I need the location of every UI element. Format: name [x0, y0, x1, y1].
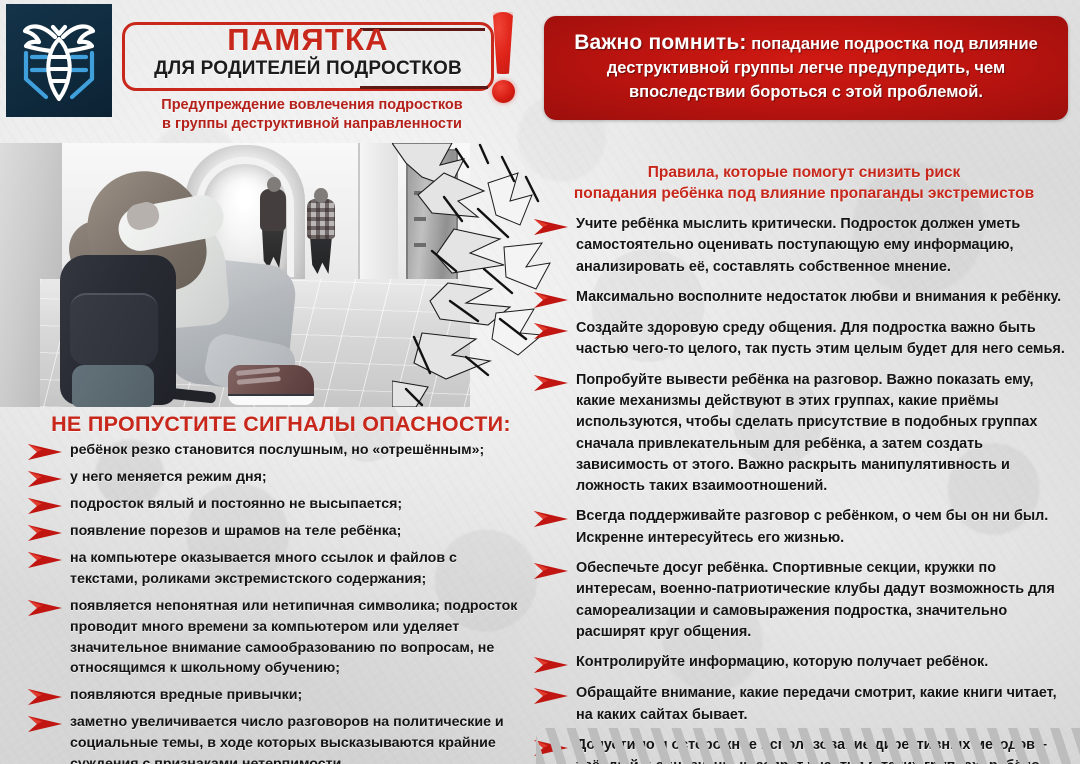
arrow-bullet-icon — [28, 599, 62, 617]
page-note-line-2: в группы деструктивной направленности — [112, 115, 512, 134]
list-item: Обеспечьте досуг ребёнка. Спортивные сек… — [534, 558, 1074, 643]
arrow-bullet-icon — [28, 443, 62, 461]
arrow-bullet-icon — [28, 470, 62, 488]
photo-locker — [406, 149, 458, 289]
right-section-heading-line-2: попадания ребёнка под влияние пропаганды… — [534, 183, 1074, 204]
list-item: подросток вялый и постоянно не высыпаетс… — [28, 494, 528, 515]
arrow-bullet-icon — [28, 715, 62, 733]
important-callout-lead: Важно помнить: — [574, 31, 746, 54]
arrow-bullet-icon — [28, 551, 62, 569]
list-item: у него меняется режим дня; — [28, 467, 528, 488]
exclamation-bar — [488, 12, 518, 74]
list-item-text: Контролируйте информацию, которую получа… — [576, 652, 988, 673]
list-item-text: заметно увеличивается число разговоров н… — [70, 712, 528, 764]
prevention-rules-list: Учите ребёнка мыслить критически. Подрос… — [534, 214, 1074, 764]
list-item: Учите ребёнка мыслить критически. Подрос… — [534, 214, 1074, 278]
arrow-bullet-icon — [534, 562, 568, 580]
list-item-text: Обращайте внимание, какие передачи смотр… — [576, 683, 1074, 726]
list-item-text: Попробуйте вывести ребёнка на разговор. … — [576, 370, 1074, 498]
list-item: на компьютере оказывается много ссылок и… — [28, 548, 528, 590]
arrow-bullet-icon — [534, 510, 568, 528]
arrow-bullet-icon — [28, 497, 62, 515]
photo-running-boy-2-body — [307, 199, 335, 239]
photo-running-boy-2-head — [314, 188, 328, 203]
list-item-text: появление порезов и шрамов на теле ребён… — [70, 521, 401, 542]
list-item: Максимально восполните недостаток любви … — [534, 287, 1074, 309]
important-callout-text: Важно помнить: попадание подростка под в… — [562, 28, 1050, 105]
arrow-bullet-icon — [28, 688, 62, 706]
list-item-text: на компьютере оказывается много ссылок и… — [70, 548, 528, 590]
list-item: ребёнок резко становится послушным, но «… — [28, 440, 528, 461]
list-item: заметно увеличивается число разговоров н… — [28, 712, 528, 764]
list-item: Допустимо и осторожное использование дир… — [534, 735, 1074, 764]
page-title: ПАМЯТКА — [122, 24, 494, 57]
page-subtitle: ДЛЯ РОДИТЕЛЕЙ ПОДРОСТКОВ — [122, 58, 494, 80]
list-item: Обращайте внимание, какие передачи смотр… — [534, 683, 1074, 726]
photo-teen-in-corridor — [0, 143, 470, 407]
list-item: появление порезов и шрамов на теле ребён… — [28, 521, 528, 542]
arrow-bullet-icon — [28, 524, 62, 542]
list-item: Попробуйте вывести ребёнка на разговор. … — [534, 370, 1074, 498]
right-section-heading: Правила, которые помогут снизить риск по… — [534, 162, 1074, 205]
list-item: появляется непонятная или нетипичная сим… — [28, 596, 528, 680]
photo-backpack-bottom — [72, 365, 154, 407]
arrow-bullet-icon — [28, 599, 62, 617]
photo-running-boy-1-body — [260, 189, 286, 231]
arrow-bullet-icon — [534, 656, 568, 674]
list-item-text: Создайте здоровую среду общения. Для под… — [576, 318, 1074, 361]
arrow-bullet-icon — [534, 374, 568, 392]
list-item-text: появляются вредные привычки; — [70, 685, 302, 706]
arrow-bullet-icon — [28, 443, 62, 461]
arrow-bullet-icon — [534, 510, 568, 528]
list-item-text: Максимально восполните недостаток любви … — [576, 287, 1061, 308]
photo-backpack-pocket — [70, 293, 158, 365]
organization-logo — [6, 4, 112, 117]
list-item-text: Всегда поддерживайте разговор с ребёнком… — [576, 506, 1074, 549]
arrow-bullet-icon — [28, 715, 62, 733]
arrow-bullet-icon — [534, 687, 568, 705]
list-item: появляются вредные привычки; — [28, 685, 528, 706]
arrow-bullet-icon — [534, 291, 568, 309]
arrow-bullet-icon — [534, 291, 568, 309]
danger-signals-list: ребёнок резко становится послушным, но «… — [28, 440, 528, 764]
list-item-text: появляется непонятная или нетипичная сим… — [70, 596, 528, 680]
arrow-bullet-icon — [534, 562, 568, 580]
list-item-text: ребёнок резко становится послушным, но «… — [70, 440, 484, 461]
arrow-bullet-icon — [28, 470, 62, 488]
exclamation-connector-bottom — [360, 86, 488, 89]
important-callout-box: Важно помнить: попадание подростка под в… — [544, 16, 1068, 120]
list-item: Контролируйте информацию, которую получа… — [534, 652, 1074, 674]
left-section-heading: НЕ ПРОПУСТИТЕ СИГНАЛЫ ОПАСНОСТИ: — [26, 412, 536, 437]
right-section-heading-line-1: Правила, которые помогут снизить риск — [534, 162, 1074, 183]
arrow-bullet-icon — [28, 688, 62, 706]
arrow-bullet-icon — [534, 656, 568, 674]
exclamation-mark-icon — [478, 8, 534, 112]
arrow-bullet-icon — [534, 322, 568, 340]
arrow-bullet-icon — [534, 739, 568, 757]
list-item-text: у него меняется режим дня; — [70, 467, 267, 488]
exclamation-dot — [492, 80, 515, 103]
poster-root: ПАМЯТКА ДЛЯ РОДИТЕЛЕЙ ПОДРОСТКОВ Предупр… — [0, 0, 1080, 764]
arrow-bullet-icon — [534, 687, 568, 705]
arrow-bullet-icon — [534, 322, 568, 340]
arrow-bullet-icon — [534, 218, 568, 236]
arrow-bullet-icon — [28, 497, 62, 515]
list-item: Создайте здоровую среду общения. Для под… — [534, 318, 1074, 361]
arrow-bullet-icon — [534, 218, 568, 236]
arrow-bullet-icon — [28, 524, 62, 542]
arrow-bullet-icon — [534, 739, 568, 757]
list-item: Всегда поддерживайте разговор с ребёнком… — [534, 506, 1074, 549]
list-item-text: Обеспечьте досуг ребёнка. Спортивные сек… — [576, 558, 1074, 643]
page-note: Предупреждение вовлечения подростков в г… — [112, 96, 512, 134]
arrow-bullet-icon — [28, 551, 62, 569]
list-item-text: подросток вялый и постоянно не высыпаетс… — [70, 494, 402, 515]
list-item-text: Допустимо и осторожное использование дир… — [576, 735, 1074, 764]
bee-shield-emblem-icon — [19, 17, 99, 105]
arrow-bullet-icon — [534, 374, 568, 392]
page-note-line-1: Предупреждение вовлечения подростков — [112, 96, 512, 115]
photo-running-boy-1-head — [267, 177, 281, 192]
list-item-text: Учите ребёнка мыслить критически. Подрос… — [576, 214, 1074, 278]
